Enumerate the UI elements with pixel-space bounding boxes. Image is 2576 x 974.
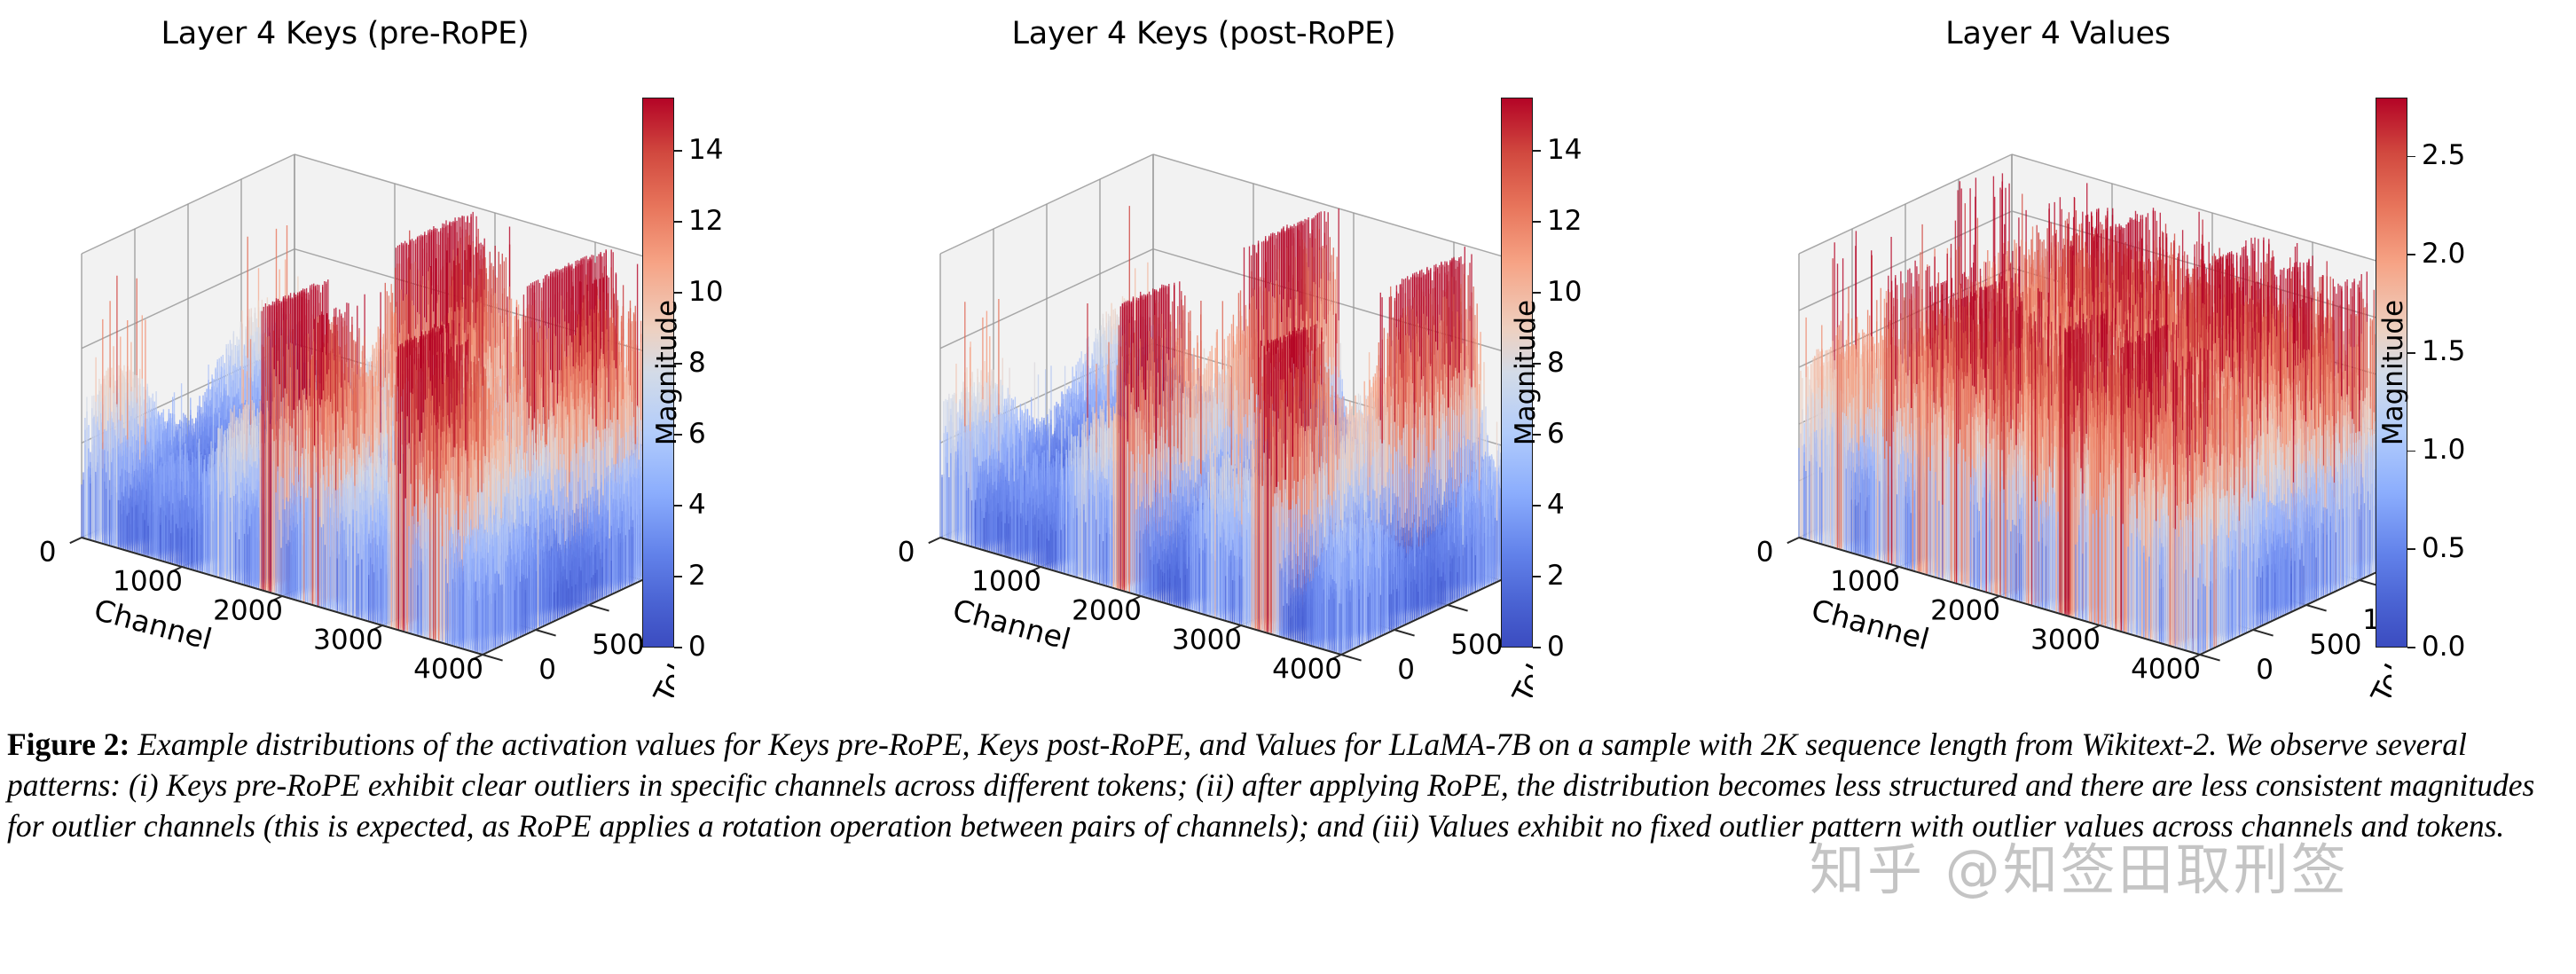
tick-label: 2.0 [2422,240,2465,268]
tick-label: 0 [688,633,706,661]
tick-dash [674,292,682,294]
xtick-label: 1000 [113,565,183,597]
tick-label: 0.5 [2422,535,2465,562]
tick-dash [1533,505,1541,507]
tick-label: 6 [688,420,706,448]
tick-label: 8 [688,350,706,377]
xtick-label: 0 [39,536,57,568]
figure-page: Layer 4 Keys (pre-RoPE) 0100020003000400… [0,0,2576,974]
tick-dash [674,505,682,507]
colorbar-label: Magnitude [1510,300,1542,445]
xaxis-label: Channel [90,592,216,656]
ytick-label: 500 [592,629,644,661]
tick-dash [1533,150,1541,152]
tick-dash [674,647,682,648]
xtick-label: 2000 [1072,594,1142,626]
panel-values: Layer 4 Values 01000200030004000Channel0… [1717,0,2576,710]
axes3d-keys-pre-rope: 01000200030004000Channel0500100015002000… [0,41,674,697]
figure-caption: Figure 2: Example distributions of the a… [7,724,2571,846]
tick-label: 0.0 [2422,633,2465,661]
panel-keys-post-rope: Layer 4 Keys (post-RoPE) 010002000300040… [859,0,1717,710]
xtick-label: 0 [898,536,915,568]
colorbar-ticks: 0.00.51.01.52.02.5 [2407,98,2509,648]
tick-label: 12 [1547,208,1582,235]
tick-dash [674,150,682,152]
tick-label: 6 [1547,420,1565,448]
xtick-label: 4000 [2131,653,2201,685]
tick-label: 1.0 [2422,436,2465,464]
tick-label: 8 [1547,350,1565,377]
tick-dash [1533,221,1541,223]
ytick-label: 0 [2256,654,2274,686]
tick-label: 2 [688,562,706,590]
colorbar-ticks: 02468101214 [674,98,775,648]
figure-label: Figure 2: [7,727,130,762]
tick-label: 10 [688,279,723,306]
xtick-label: 3000 [1172,624,1242,656]
xtick-label: 1000 [971,565,1041,597]
axes3d-keys-post-rope: 01000200030004000Channel0500100015002000… [859,41,1533,697]
figure-panels: Layer 4 Keys (pre-RoPE) 0100020003000400… [0,0,2576,710]
tick-label: 14 [688,137,723,164]
colorbar-values: 0.00.51.01.52.02.5 Magnitude [2376,98,2509,648]
tick-dash [2407,451,2415,452]
tick-dash [2407,254,2415,255]
colorbar-keys-post-rope: 02468101214 Magnitude [1501,98,1634,648]
tick-dash [2407,647,2415,648]
tick-label: 1.5 [2422,338,2465,365]
colorbar-label: Magnitude [2377,300,2409,445]
tick-label: 12 [688,208,723,235]
tick-dash [2407,548,2415,550]
tick-label: 0 [1547,633,1565,661]
colorbar-keys-pre-rope: 02468101214 Magnitude [642,98,775,648]
panel-keys-pre-rope: Layer 4 Keys (pre-RoPE) 0100020003000400… [0,0,859,710]
tick-label: 2 [1547,562,1565,590]
ytick-label: 0 [538,654,556,686]
tick-dash [1533,647,1541,648]
ytick-label: 0 [1397,654,1415,686]
ytick-label: 500 [2309,629,2361,661]
ytick-label: 500 [1450,629,1503,661]
tick-dash [1533,576,1541,577]
tick-label: 14 [1547,137,1582,164]
xtick-label: 4000 [1272,653,1342,685]
tick-label: 2.5 [2422,142,2465,169]
tick-dash [674,576,682,577]
axes3d-values: 01000200030004000Channel0500100015002000… [1717,41,2391,697]
tick-dash [1533,292,1541,294]
xtick-label: 0 [1756,536,1774,568]
xaxis-label: Channel [1808,592,1933,656]
xtick-label: 3000 [2030,624,2101,656]
xtick-label: 2000 [1930,594,2000,626]
tick-dash [674,221,682,223]
tick-label: 4 [688,491,706,519]
xtick-label: 1000 [1830,565,1900,597]
xtick-label: 4000 [413,653,483,685]
tick-label: 10 [1547,279,1582,306]
xaxis-label: Channel [949,592,1074,656]
figure-caption-text: Example distributions of the activation … [7,727,2534,844]
tick-dash [2407,156,2415,158]
colorbar-label: Magnitude [651,300,683,445]
tick-label: 4 [1547,491,1565,519]
colorbar-ticks: 02468101214 [1533,98,1634,648]
xtick-label: 3000 [313,624,383,656]
xtick-label: 2000 [213,594,283,626]
